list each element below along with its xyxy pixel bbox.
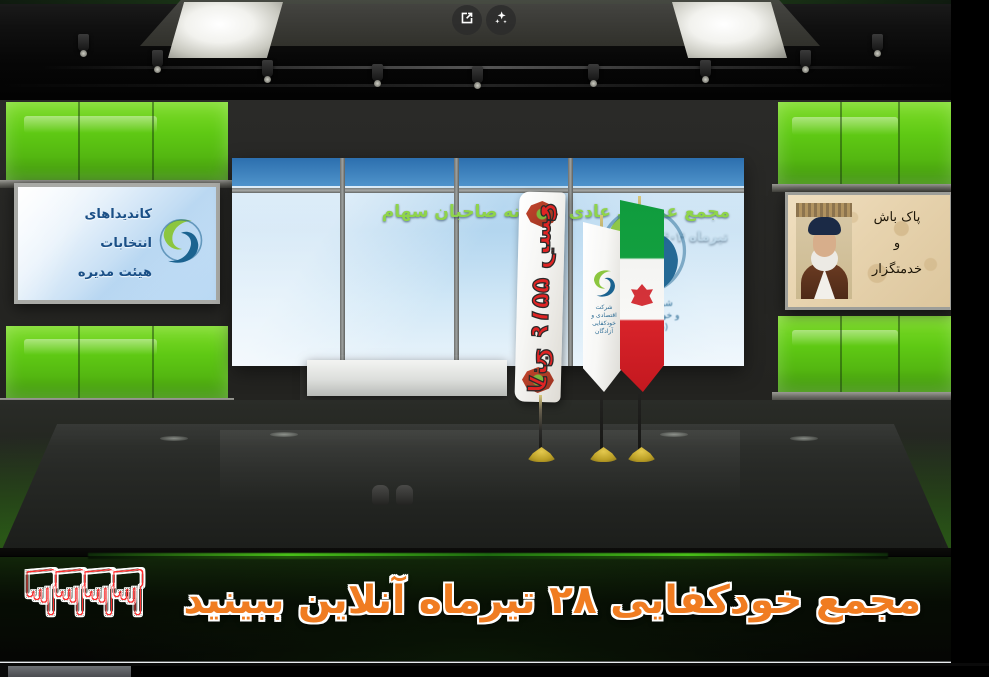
video-frame[interactable]: کاندیداهای انتخابات هیئت مدیره مجمع عموم… [0,0,951,663]
ceiling-light-panel-right [672,2,787,58]
floor-uplight [270,432,298,437]
right-poster: پاک باش و خدمتگزار [785,192,951,310]
open-in-new-window-button[interactable] [452,5,482,35]
center-backdrop: مجمع عمومی عادی سالیانه صاحبان سهام تیرم… [232,158,744,366]
spotlight [262,60,273,77]
company-flag-logo-icon [588,266,621,302]
wall-rail [772,184,951,192]
iran-flag [620,200,664,392]
panel-seam [840,102,842,184]
iran-emblem-icon [631,284,653,306]
left-screen-line-1: کاندیداهای [78,200,152,229]
spotlight [372,64,383,81]
ai-enhance-button[interactable] [486,5,516,35]
external-link-icon [459,10,475,30]
panel-seam [898,102,900,184]
cleric-portrait [796,203,852,299]
bottom-bar-segment[interactable] [8,666,131,677]
company-flag-caption: شرکت اقتصادی و خودکفایی آزادگان [585,304,623,336]
green-panel-right-top [778,102,951,184]
letterbox-right [951,0,989,677]
banner-pole [539,395,542,453]
poster-line-3: خدمتگزار [851,257,943,283]
podium-desk [307,360,507,396]
backdrop-top-strip [232,158,744,186]
shoe-left [372,485,389,505]
panel-seam [78,102,80,180]
green-panel-left-top [6,102,228,180]
shoes-reflection [372,485,416,505]
left-screen-line-2: انتخابات [78,229,152,258]
floor-uplight [660,432,688,437]
video-player-screenshot: کاندیداهای انتخابات هیئت مدیره مجمع عموم… [0,0,989,677]
floor-uplight [790,436,818,441]
panel-seam [152,326,154,398]
floor-uplight [160,436,188,441]
backdrop-mullion-v [340,158,345,366]
company-flag: شرکت اقتصادی و خودکفایی آزادگان [583,222,625,392]
portrait-frame-ornament [796,203,852,217]
company-logo-icon [154,211,208,273]
poster-calligraphy: پاک باش و خدمتگزار [851,205,943,283]
spotlight [872,34,883,51]
spotlight [78,34,89,51]
green-panel-right-bottom [778,316,951,392]
banner-text: لانج ۵۵۱۶ ریسع [523,211,556,394]
spotlight [472,66,483,83]
poster-line-1: پاک باش [851,205,943,231]
panel-seam [840,316,842,392]
backdrop-mullion-v [568,158,573,366]
left-display-screen: کاندیداهای انتخابات هیئت مدیره [14,183,220,304]
backdrop-mullion-v [454,158,459,366]
bottom-bar-track[interactable] [131,666,989,677]
panel-seam [898,316,900,392]
spotlight [700,60,711,77]
spotlight [800,50,811,67]
poster-line-2: و [851,231,943,257]
spotlight [588,64,599,81]
green-panel-left-bottom [6,326,228,398]
feather-banner: لانج ۵۵۱۶ ریسع [514,191,565,402]
ceiling-light-panel-left [168,2,283,58]
player-overlay-buttons [452,5,516,35]
panel-seam [78,326,80,398]
panel-seam [152,102,154,180]
portrait-turban [808,217,841,235]
backdrop-mullion-h [232,188,744,193]
shoe-right [396,485,413,505]
stage-reflection [220,430,740,504]
left-screen-line-3: هیئت مدیره [78,258,152,287]
stage-green-light-strip [88,553,888,559]
spotlight [152,50,163,67]
sparkles-icon [493,10,509,30]
left-screen-text: کاندیداهای انتخابات هیئت مدیره [78,200,152,287]
